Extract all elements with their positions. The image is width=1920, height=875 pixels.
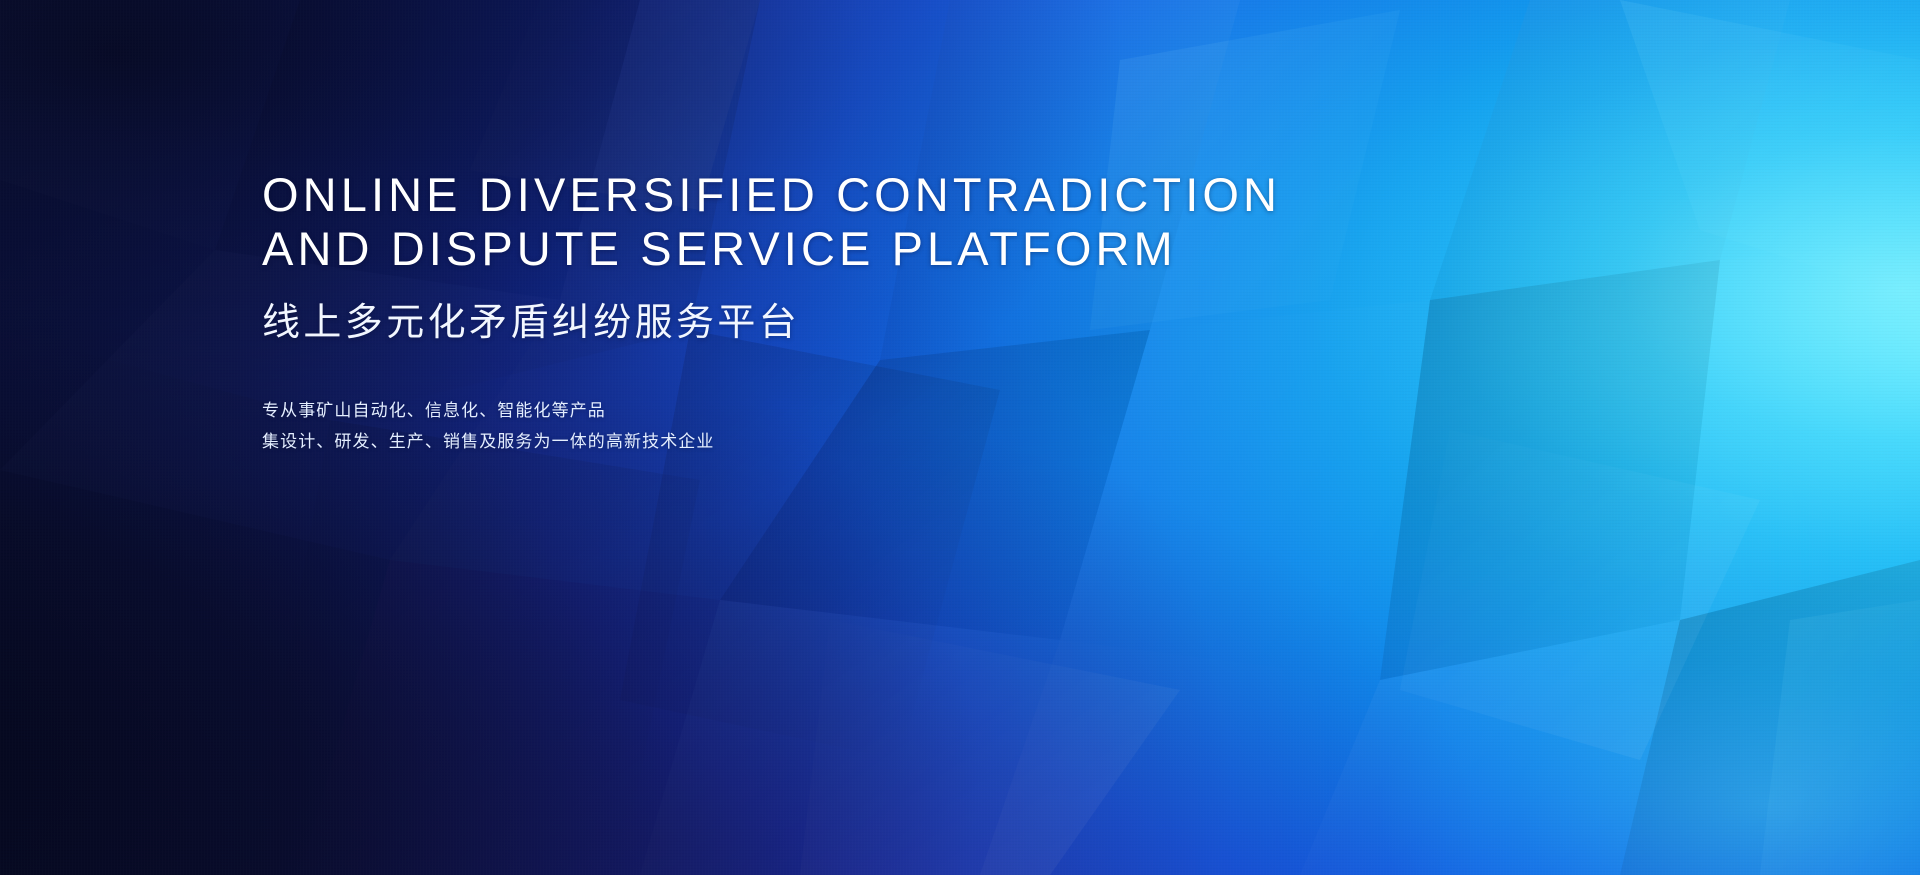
page-title-english: ONLINE DIVERSIFIED CONTRADICTION AND DIS… [262, 168, 1502, 276]
page-title-english-line-2: AND DISPUTE SERVICE PLATFORM [262, 222, 1502, 276]
page-description-line-1: 专从事矿山自动化、信息化、智能化等产品 [262, 396, 1502, 427]
hero-banner: ONLINE DIVERSIFIED CONTRADICTION AND DIS… [0, 0, 1920, 875]
page-title-english-line-1: ONLINE DIVERSIFIED CONTRADICTION [262, 168, 1502, 222]
hero-content: ONLINE DIVERSIFIED CONTRADICTION AND DIS… [262, 168, 1502, 458]
page-description-line-2: 集设计、研发、生产、销售及服务为一体的高新技术企业 [262, 427, 1502, 458]
page-description: 专从事矿山自动化、信息化、智能化等产品 集设计、研发、生产、销售及服务为一体的高… [262, 396, 1502, 458]
page-title-chinese: 线上多元化矛盾纠纷服务平台 [262, 297, 1502, 347]
